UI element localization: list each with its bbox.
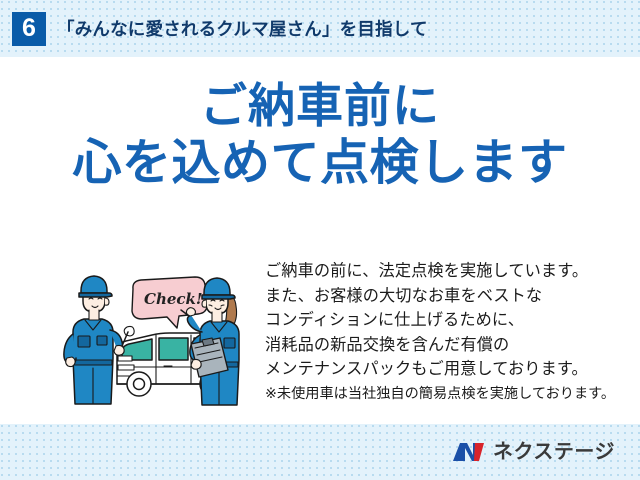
footer: ネクステージ: [0, 424, 640, 480]
body-copy: ご納車の前に、法定点検を実施しています。 また、お客様の大切なお車をベストな コ…: [265, 259, 615, 406]
headline: ご納車前に 心を込めて点検します: [0, 77, 640, 194]
body-line: コンディションに仕上げるために、: [265, 308, 615, 333]
body-line: ご納車の前に、法定点検を実施しています。: [265, 259, 615, 284]
check-speech-bubble: Check!: [132, 277, 207, 328]
mechanics-illustration: .ln{fill:none;stroke:#1a1a1a;stroke-widt…: [60, 272, 260, 417]
nextage-n-mark-icon: [452, 440, 486, 464]
headline-line-2: 心を込めて点検します: [0, 134, 640, 194]
check-bubble-label: Check!: [144, 290, 203, 308]
nextage-logo: ネクステージ: [452, 440, 615, 464]
body-line: メンテナンスパックもご用意しております。: [265, 357, 615, 382]
nextage-brand-name: ネクステージ: [493, 442, 615, 462]
mechanic-left: [64, 276, 134, 404]
body-note: ※未使用車は当社独自の簡易点検を実施しております。: [265, 383, 615, 406]
mechanics-illustration-svg: .ln{fill:none;stroke:#1a1a1a;stroke-widt…: [60, 272, 260, 417]
body-line: 消耗品の新品交換を含んだ有償の: [265, 333, 615, 358]
banner-root: 6 「みんなに愛されるクルマ屋さん」を目指して ご納車前に 心を込めて点検します…: [0, 0, 640, 480]
section-number-badge: 6: [12, 12, 46, 46]
body-line: また、お客様の大切なお車をベストな: [265, 284, 615, 309]
header-title: 「みんなに愛されるクルマ屋さん」を目指して: [57, 16, 428, 41]
main-panel: ご納車前に 心を込めて点検します ご納車の前に、法定点検を実施しています。 また…: [0, 57, 640, 424]
header: 6 「みんなに愛されるクルマ屋さん」を目指して: [0, 0, 640, 57]
headline-line-1: ご納車前に: [200, 79, 440, 132]
